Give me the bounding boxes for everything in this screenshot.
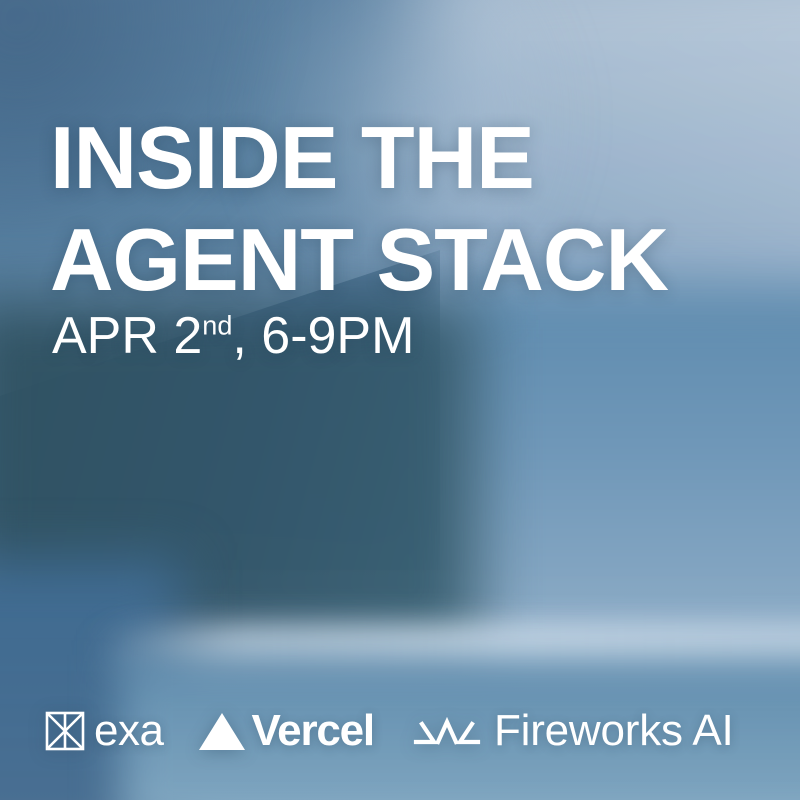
event-poster: INSIDE THE AGENT STACK APR 2nd, 6-9PM ex… [0,0,800,800]
event-datetime: APR 2nd, 6-9PM [52,305,414,367]
exa-hourglass-square-icon [44,710,86,752]
partner-name-fireworks: Fireworks AI [494,709,734,753]
partner-logo-row: exa Vercel Fireworks AI [44,700,734,762]
partner-logo-fireworks: Fireworks AI [412,700,734,762]
headline-line-2: AGENT STACK [50,209,770,311]
partner-name-vercel: Vercel [251,709,373,753]
partner-logo-exa: exa [44,700,163,762]
vercel-triangle-icon [197,709,247,753]
event-time-suffix: , 6-9PM [232,307,414,365]
partner-name-exa: exa [94,709,163,753]
partner-logo-vercel: Vercel [197,700,373,762]
fireworks-chevrons-icon [412,710,482,752]
event-date-prefix: APR 2 [52,307,202,365]
headline-line-1: INSIDE THE [50,107,770,209]
page-title: INSIDE THE AGENT STACK [50,107,770,311]
event-date-ordinal: nd [202,311,232,341]
